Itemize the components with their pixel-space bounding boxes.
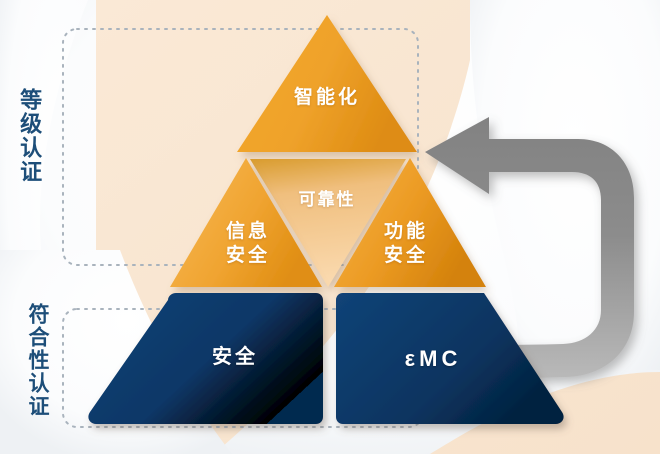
- pyramid-diagram-svg: [0, 0, 660, 454]
- side-label-grade-certification: 等级认证: [18, 88, 41, 200]
- diagram-canvas: 智能化 可靠性 信息 安全 功能 安全 安全 εMC 等级认证 符合性认证: [0, 0, 660, 454]
- side-label-compliance-certification: 符合性认证: [26, 303, 48, 429]
